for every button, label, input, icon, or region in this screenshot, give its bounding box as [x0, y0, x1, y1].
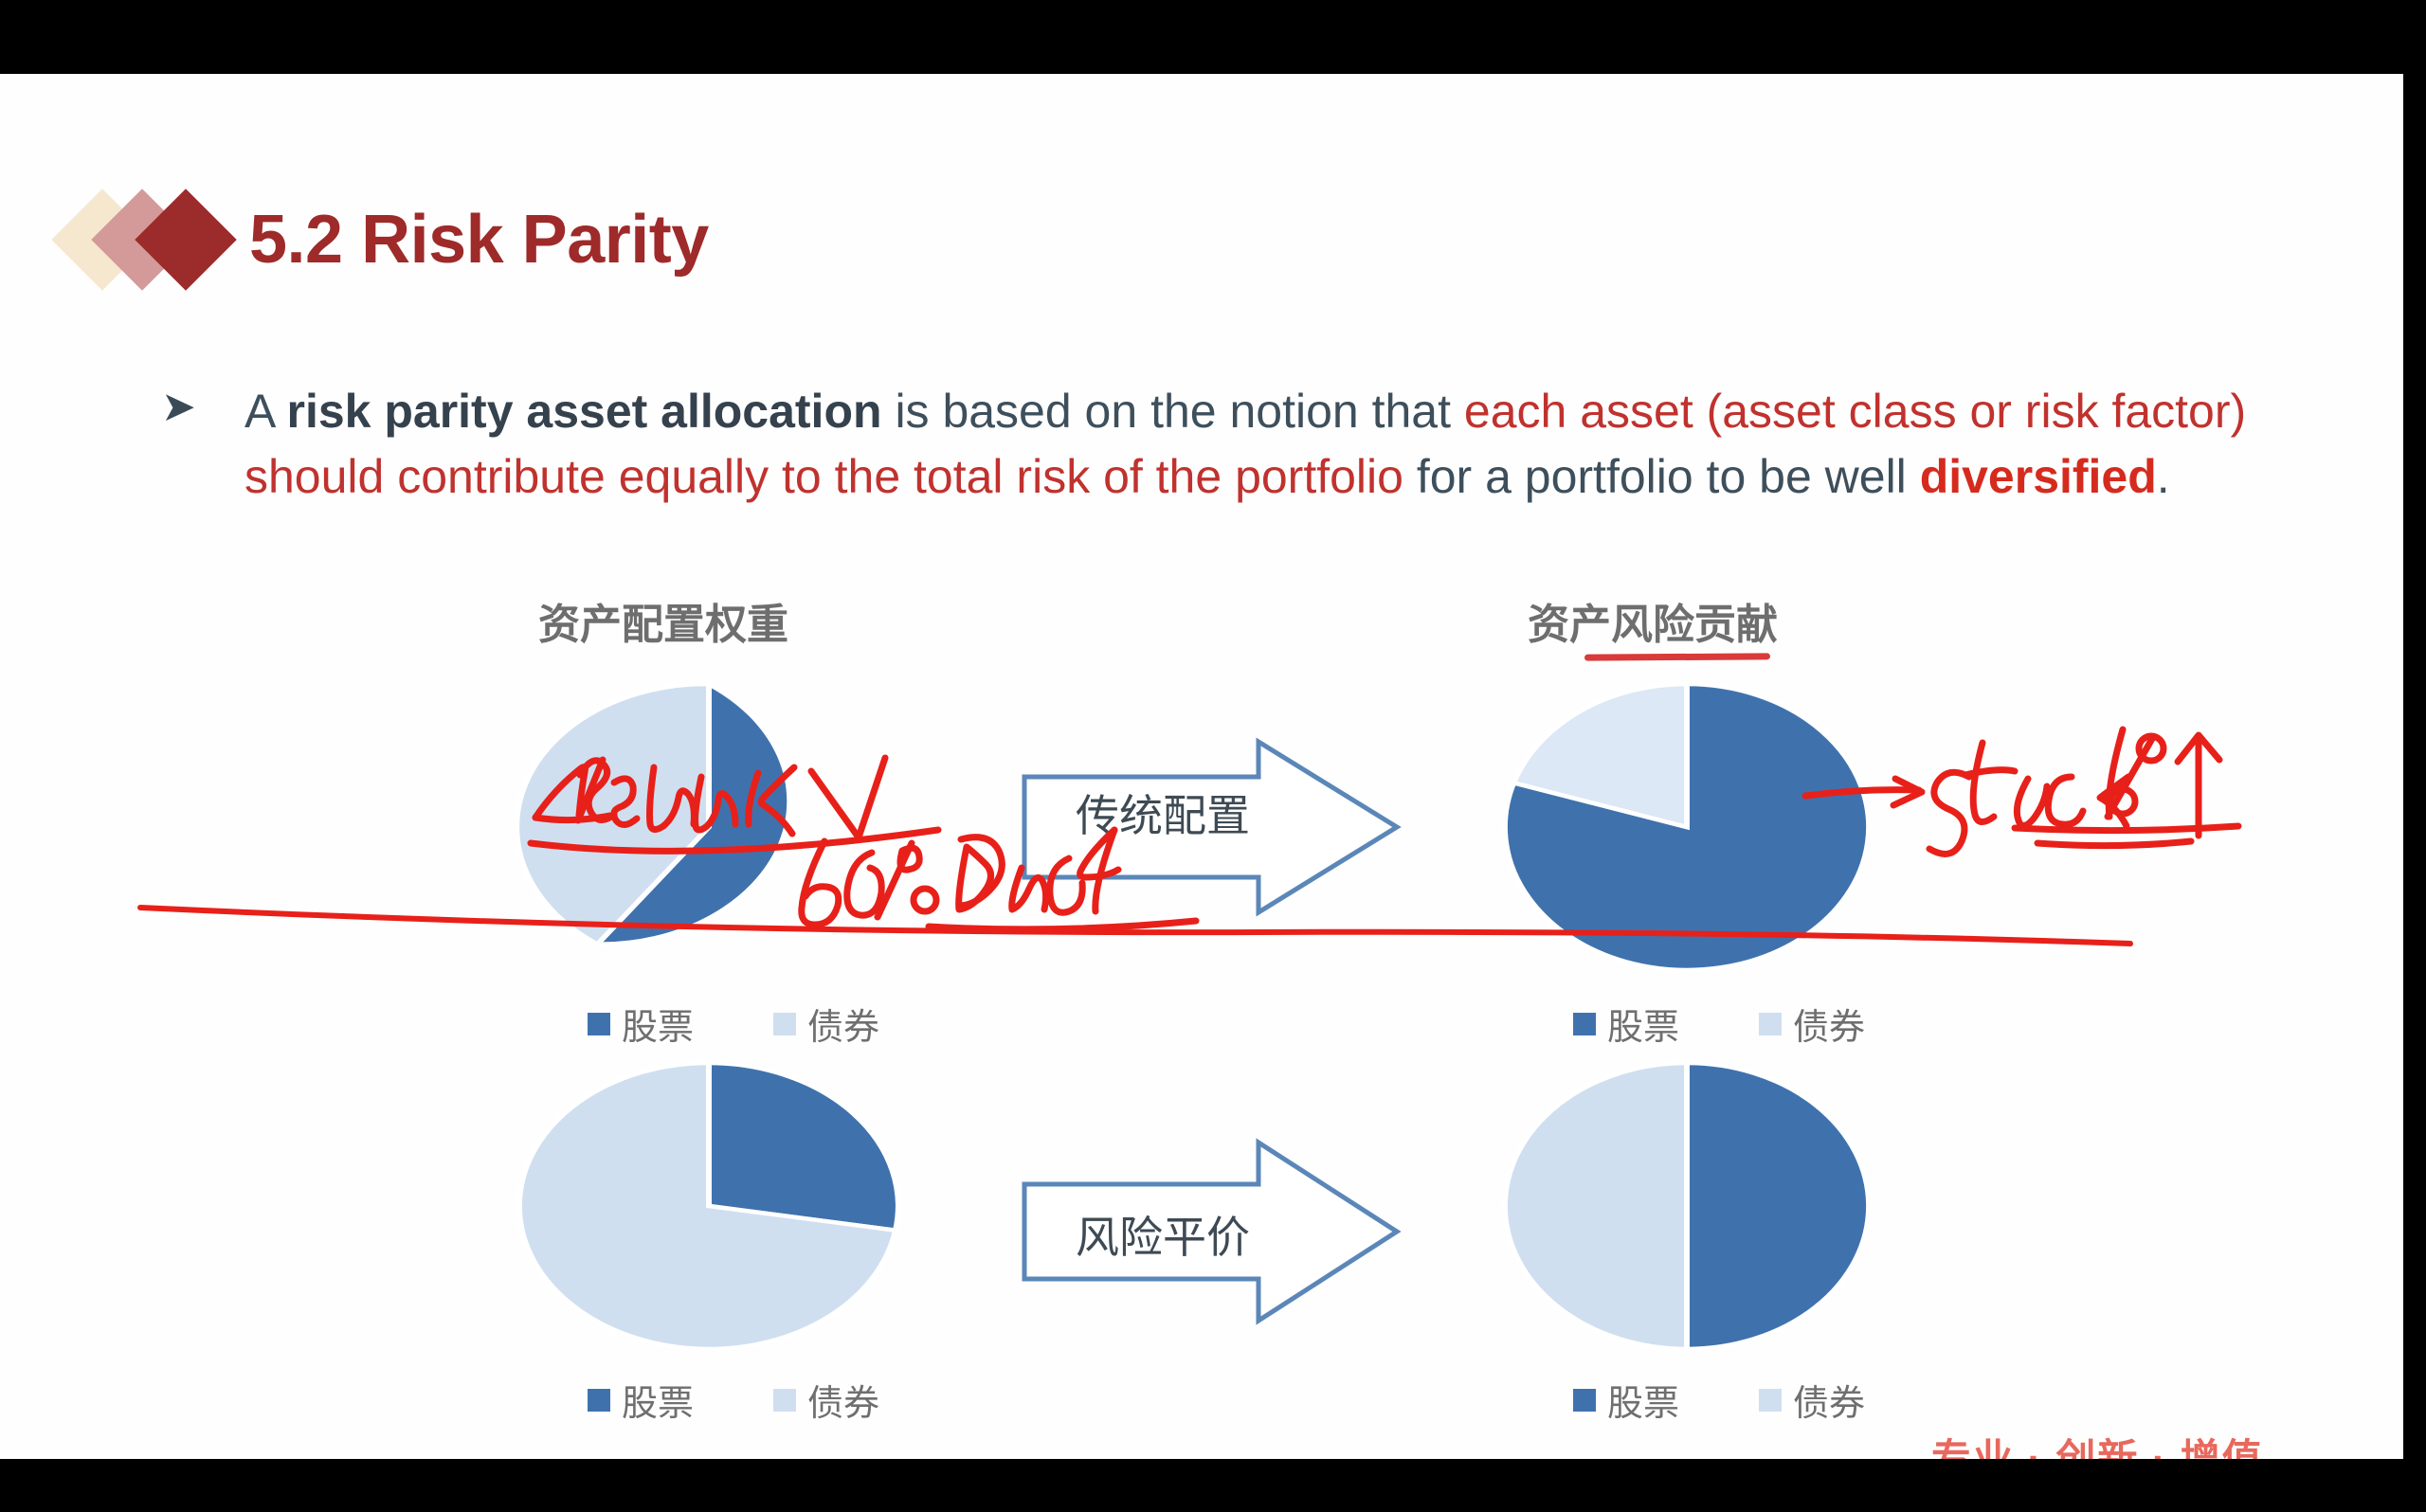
letterbox-bottom	[0, 1459, 2426, 1512]
legend-label-bond: 债券	[807, 1374, 879, 1426]
diamond-decoration-icon	[66, 189, 242, 289]
video-frame: 5.2 Risk Parity ➤ A risk parity asset al…	[0, 0, 2426, 1512]
legend-item-stock: 股票	[1573, 998, 1679, 1050]
pie-chart-risk-riskparity	[1505, 1063, 1869, 1349]
legend-label-stock: 股票	[1607, 998, 1679, 1050]
bullet-arrow-icon: ➤	[161, 387, 196, 428]
legend-label-bond: 债券	[807, 998, 879, 1050]
legend-swatch-stock-icon	[588, 1389, 610, 1412]
pie-slice-stock	[1687, 1063, 1869, 1349]
legend-risk-riskparity: 股票 债券	[1573, 1374, 1865, 1426]
legend-swatch-bond-icon	[773, 1389, 796, 1412]
column-header-risk-contribution: 资产风险贡献	[1528, 590, 1778, 651]
legend-label-stock: 股票	[1607, 1374, 1679, 1426]
legend-item-bond: 债券	[1759, 1374, 1865, 1426]
pie-slices	[1505, 1063, 1869, 1349]
body-lead-2: is based on the notion that	[882, 385, 1464, 438]
legend-swatch-bond-icon	[1759, 1389, 1782, 1412]
body-bold-term: risk parity asset allocation	[286, 385, 881, 438]
pie-chart-allocation-riskparity	[519, 1063, 898, 1349]
letterbox-right	[2403, 0, 2426, 1512]
arrow-label-traditional: 传统配置	[1076, 789, 1275, 844]
page-title: 5.2 Risk Parity	[249, 206, 709, 274]
legend-allocation-traditional: 股票 债券	[588, 998, 879, 1050]
column-header-allocation: 资产配置权重	[538, 590, 788, 651]
body-diversified-term: diversified	[1920, 450, 2157, 503]
body-tail: for a portfolio to be well	[1403, 450, 1920, 503]
pie-slices	[1505, 684, 1869, 970]
pie-chart-risk-traditional	[1505, 684, 1869, 970]
legend-swatch-stock-icon	[1573, 1389, 1596, 1412]
arrow-label-riskparity: 风险平价	[1076, 1211, 1275, 1266]
pie-slices	[516, 684, 789, 945]
legend-item-stock: 股票	[1573, 1374, 1679, 1426]
slide-footer-slogan: 专业 · 创新 · 增值	[1931, 1427, 2264, 1459]
pie-chart-allocation-traditional	[519, 684, 898, 970]
letterbox-top	[0, 0, 2426, 74]
legend-item-stock: 股票	[588, 998, 694, 1050]
legend-label-bond: 债券	[1793, 998, 1865, 1050]
legend-swatch-stock-icon	[1573, 1013, 1596, 1035]
legend-label-stock: 股票	[622, 998, 694, 1050]
legend-item-bond: 债券	[773, 1374, 879, 1426]
ink-underline-right-header	[1584, 653, 1770, 660]
bullet-paragraph: ➤ A risk parity asset allocation is base…	[161, 379, 2312, 510]
body-period: .	[2157, 450, 2170, 503]
legend-item-bond: 债券	[1759, 998, 1865, 1050]
legend-item-stock: 股票	[588, 1374, 694, 1426]
presentation-slide: 5.2 Risk Parity ➤ A risk parity asset al…	[0, 74, 2403, 1459]
pie-slice-stock	[709, 1063, 898, 1231]
legend-allocation-riskparity: 股票 债券	[588, 1374, 879, 1426]
legend-label-bond: 债券	[1793, 1374, 1865, 1426]
slide-title-row: 5.2 Risk Parity	[66, 189, 709, 289]
legend-swatch-stock-icon	[588, 1013, 610, 1035]
legend-item-bond: 债券	[773, 998, 879, 1050]
legend-swatch-bond-icon	[773, 1013, 796, 1035]
pie-slices	[519, 1063, 898, 1349]
pie-slice-bond	[1505, 1063, 1687, 1349]
legend-label-stock: 股票	[622, 1374, 694, 1426]
body-text: A risk parity asset allocation is based …	[244, 379, 2312, 510]
body-lead-1: A	[244, 385, 286, 438]
legend-swatch-bond-icon	[1759, 1013, 1782, 1035]
legend-risk-traditional: 股票 债券	[1573, 998, 1865, 1050]
